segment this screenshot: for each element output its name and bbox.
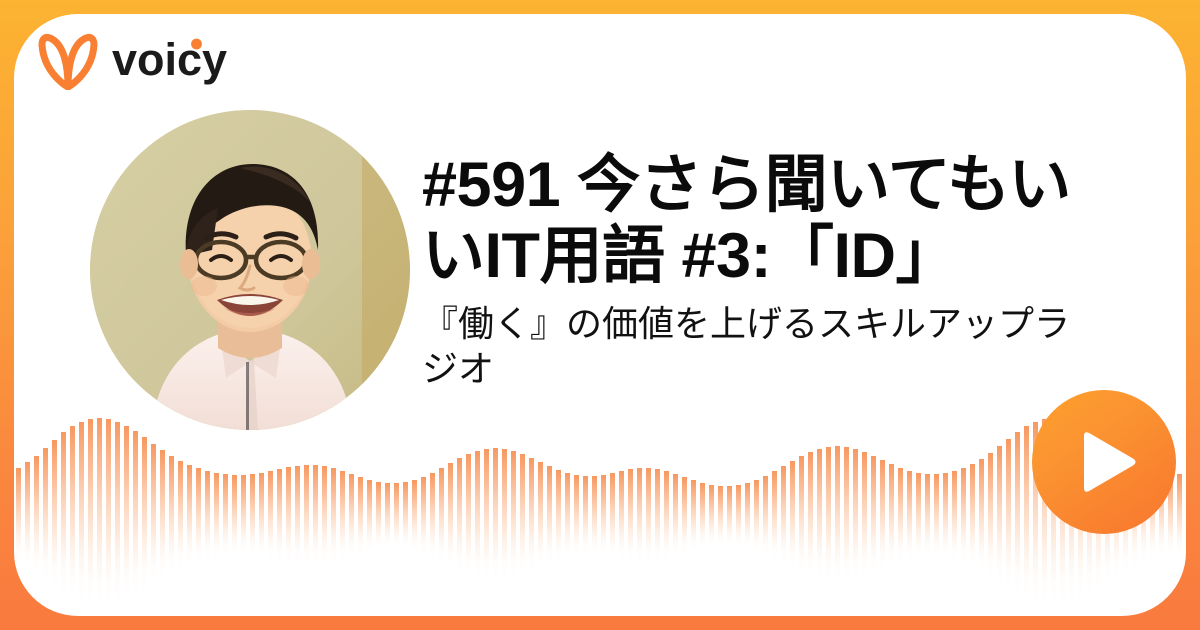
waveform-bar	[394, 483, 399, 550]
waveform-bar	[187, 465, 192, 567]
waveform-bar	[565, 473, 570, 559]
waveform-bar	[313, 465, 318, 567]
waveform-bar	[745, 483, 750, 550]
waveform-bar	[151, 444, 156, 586]
waveform-bar	[925, 474, 930, 559]
waveform-bar	[475, 451, 480, 580]
waveform-bar	[763, 476, 768, 557]
waveform-bar	[88, 419, 93, 609]
waveform-bar	[178, 461, 183, 570]
waveform-bar	[295, 466, 300, 566]
waveform-bar	[169, 456, 174, 575]
waveform-bar	[349, 474, 354, 559]
play-triangle-icon	[1080, 430, 1138, 494]
waveform-bar	[727, 486, 732, 547]
waveform-bar	[367, 480, 372, 553]
waveform-bar	[142, 437, 147, 593]
voicy-i-dot-icon	[191, 39, 202, 50]
waveform-bar	[529, 458, 534, 573]
waveform-bar	[304, 465, 309, 567]
waveform-bar	[970, 464, 975, 568]
waveform-bar	[754, 480, 759, 553]
waveform-bar	[52, 440, 57, 590]
waveform-bar	[790, 461, 795, 570]
waveform-bar	[520, 454, 525, 577]
waveform-bar	[664, 471, 669, 561]
waveform-bar	[466, 454, 471, 577]
waveform-bar	[952, 471, 957, 561]
waveform-bar	[250, 474, 255, 559]
waveform-bar	[691, 480, 696, 553]
waveform-bar	[583, 476, 588, 557]
waveform-bar	[16, 468, 21, 564]
waveform-bar	[376, 482, 381, 551]
waveform-bar	[610, 473, 615, 559]
voicy-wordmark: voicy	[112, 35, 272, 87]
waveform-bar	[799, 456, 804, 575]
waveform-bar	[34, 456, 39, 575]
waveform-bar	[853, 449, 858, 582]
voicy-logo[interactable]: voicy	[38, 30, 272, 92]
channel-avatar-photo	[90, 110, 410, 430]
audio-waveform	[14, 400, 1186, 616]
waveform-bar	[556, 470, 561, 562]
waveform-bar	[961, 468, 966, 564]
waveform-bar	[547, 466, 552, 566]
waveform-bar	[70, 426, 75, 603]
waveform-bar	[358, 477, 363, 556]
waveform-bar	[493, 448, 498, 582]
waveform-bar	[277, 469, 282, 563]
episode-card: voicy	[14, 14, 1186, 616]
orange-frame: voicy	[0, 0, 1200, 630]
voicy-wordmark-text: voicy	[112, 35, 227, 85]
waveform-bar	[61, 432, 66, 597]
play-button[interactable]	[1032, 390, 1176, 534]
waveform-bar	[817, 449, 822, 582]
waveform-bar	[340, 471, 345, 561]
waveform-bar	[934, 474, 939, 559]
waveform-bar	[268, 471, 273, 561]
waveform-bar	[133, 431, 138, 598]
waveform-bar	[1006, 439, 1011, 591]
waveform-bar	[331, 468, 336, 564]
audio-waveform-icon	[14, 400, 1186, 616]
waveform-bar	[709, 485, 714, 548]
waveform-bar	[205, 471, 210, 561]
waveform-bar	[412, 480, 417, 553]
waveform-bar	[106, 419, 111, 609]
waveform-bar	[637, 468, 642, 564]
waveform-bar	[646, 468, 651, 564]
waveform-bar	[430, 473, 435, 559]
waveform-bar	[439, 468, 444, 564]
waveform-bar	[592, 476, 597, 557]
waveform-bar	[718, 486, 723, 547]
waveform-bar	[502, 449, 507, 582]
waveform-bar	[862, 452, 867, 579]
waveform-bar	[619, 471, 624, 561]
waveform-bar	[1015, 432, 1020, 597]
waveform-bar	[628, 469, 633, 563]
waveform-bar	[826, 447, 831, 583]
waveform-bar	[871, 456, 876, 575]
voicy-leaf-icon	[38, 32, 98, 90]
episode-title: #591 今さら聞いてもいいIT用語 #3:「ID」	[422, 150, 1094, 291]
waveform-bar	[484, 449, 489, 582]
waveform-bar	[457, 458, 462, 573]
waveform-bar	[682, 477, 687, 556]
waveform-bar	[574, 475, 579, 558]
waveform-bar	[772, 471, 777, 561]
waveform-bar	[889, 464, 894, 568]
waveform-bar	[196, 468, 201, 564]
waveform-bar	[1177, 474, 1182, 559]
waveform-bar	[916, 473, 921, 559]
waveform-bar	[511, 451, 516, 580]
waveform-bar	[79, 422, 84, 606]
waveform-bar	[979, 459, 984, 572]
waveform-bar	[322, 466, 327, 566]
waveform-bar	[943, 473, 948, 559]
waveform-bar	[232, 475, 237, 558]
waveform-bar	[844, 447, 849, 583]
waveform-bar	[259, 473, 264, 559]
waveform-bar	[160, 450, 165, 581]
waveform-bar	[538, 462, 543, 570]
waveform-bar	[835, 446, 840, 584]
waveform-bar	[907, 471, 912, 561]
waveform-bar	[115, 422, 120, 606]
waveform-bar	[241, 475, 246, 558]
waveform-bar	[286, 467, 291, 565]
waveform-bar	[97, 418, 102, 610]
waveform-bar	[736, 485, 741, 548]
waveform-bar	[655, 469, 660, 563]
waveform-bar	[124, 426, 129, 603]
waveform-bar	[403, 482, 408, 551]
waveform-bar	[421, 477, 426, 556]
waveform-bar	[673, 474, 678, 559]
waveform-bar	[601, 475, 606, 558]
waveform-bar	[781, 466, 786, 566]
channel-avatar	[90, 110, 410, 430]
waveform-bar	[448, 463, 453, 569]
episode-text-block: #591 今さら聞いてもいいIT用語 #3:「ID」 『働く』の価値を上げるスキ…	[422, 150, 1094, 392]
waveform-bar	[25, 462, 30, 570]
waveform-bar	[988, 453, 993, 578]
channel-name: 『働く』の価値を上げるスキルアップラジオ	[422, 301, 1094, 392]
waveform-bar	[385, 483, 390, 550]
waveform-bar	[214, 473, 219, 559]
waveform-bar	[43, 448, 48, 582]
waveform-bar	[700, 483, 705, 550]
waveform-bar	[898, 468, 903, 564]
waveform-bar	[880, 460, 885, 571]
waveform-bar	[1024, 426, 1029, 603]
waveform-bar	[997, 446, 1002, 584]
waveform-bar	[808, 452, 813, 579]
waveform-bar	[223, 474, 228, 559]
